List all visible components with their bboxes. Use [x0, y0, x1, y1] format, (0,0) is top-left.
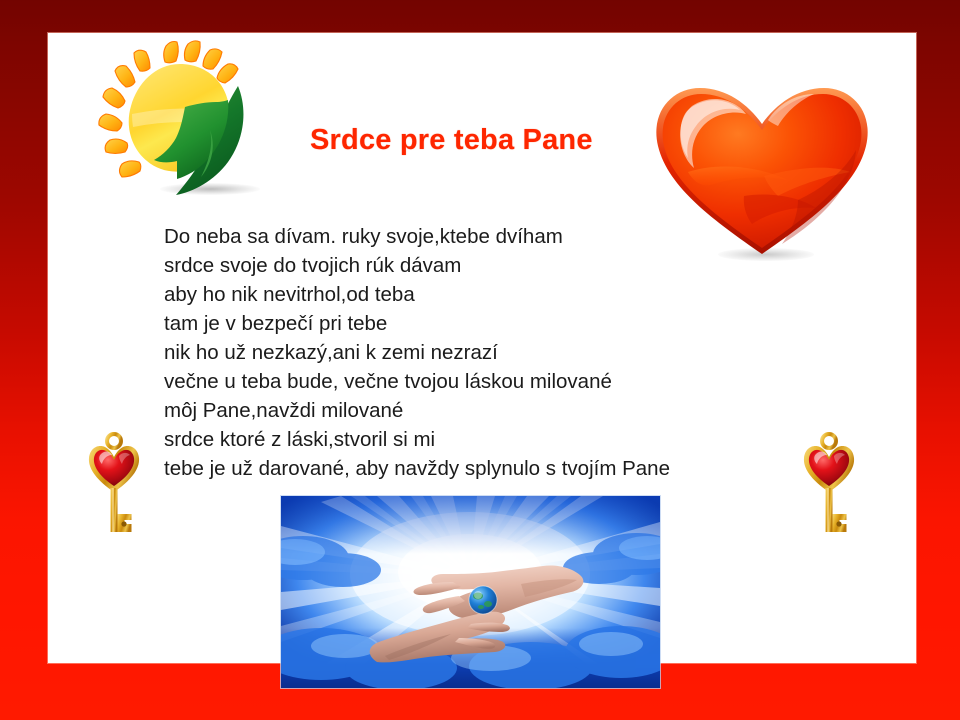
poem-line: Do neba sa dívam. ruky svoje,ktebe dvíha…: [164, 222, 670, 251]
sun-leaf-logo: [88, 38, 260, 203]
page-title: Srdce pre teba Pane: [310, 124, 593, 157]
poem-line: tam je v bezpečí pri tebe: [164, 309, 670, 338]
poem-line: večne u teba bude, večne tvojou láskou m…: [164, 367, 670, 396]
poem-line: srdce ktoré z láski,stvoril si mi: [164, 425, 670, 454]
glossy-heart: [648, 80, 876, 260]
poem-line: nik ho už nezkazý,ani k zemi nezrazí: [164, 338, 670, 367]
slide-canvas: Srdce pre teba Pane: [0, 0, 960, 720]
poem-line: môj Pane,navždi milované: [164, 396, 670, 425]
reaching-hands-photo: [281, 496, 660, 688]
poem-line: tebe je už darované, aby navždy splynulo…: [164, 454, 670, 483]
heart-key-right: [801, 430, 857, 546]
poem-line: srdce svoje do tvojich rúk dávam: [164, 251, 670, 280]
poem-line: aby ho nik nevitrhol,od teba: [164, 280, 670, 309]
heart-key-left: [86, 430, 142, 546]
poem-text: Do neba sa dívam. ruky svoje,ktebe dvíha…: [164, 222, 670, 483]
